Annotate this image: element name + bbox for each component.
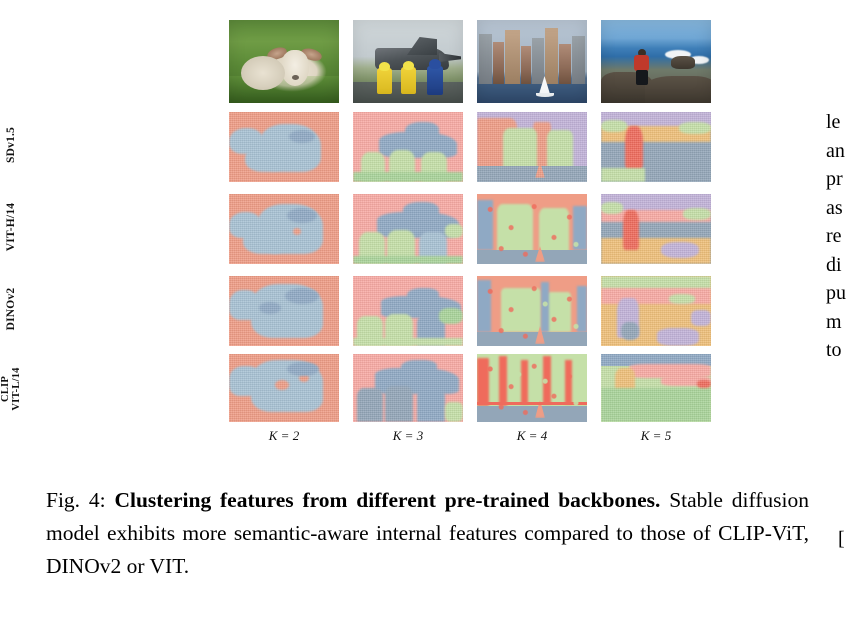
cluster-map-vith14-k2: [229, 194, 339, 264]
column-label-k3: K = 3: [353, 428, 463, 444]
cluster-map-vith14-k4: [477, 194, 587, 264]
cluster-map-dinov2-k2: [229, 276, 339, 346]
right-col-line-9: to: [826, 336, 862, 365]
column-label-k3-text: K = 3: [393, 428, 423, 443]
row-label-vit-h14: VIT-H/14: [0, 188, 22, 266]
column-label-k5: K = 5: [601, 428, 711, 444]
source-image-coast: [601, 20, 711, 103]
right-col-line-8: m: [826, 308, 862, 337]
column-label-k2: K = 2: [229, 428, 339, 444]
cluster-map-dinov2-k5: [601, 276, 711, 346]
right-col-line-6: di: [826, 251, 862, 280]
cluster-map-vith14-k3: [353, 194, 463, 264]
column-label-k4: K = 4: [477, 428, 587, 444]
cluster-map-sdv15-k2: [229, 112, 339, 182]
source-image-jet: [353, 20, 463, 103]
page-canvas: SDv1.5 VIT-H/14 DINOv2 CLIP VIT-L/14: [0, 0, 862, 630]
cluster-map-vith14-k5: [601, 194, 711, 264]
figure-caption: Fig. 4: Clustering features from differe…: [46, 484, 809, 583]
right-col-line-1: le: [826, 108, 862, 137]
figure-caption-lead: Clustering features from different pre-t…: [114, 488, 660, 512]
right-col-line-4: as: [826, 194, 862, 223]
right-col-line-2: an: [826, 137, 862, 166]
figure-number: Fig. 4:: [46, 488, 106, 512]
column-label-k5-text: K = 5: [641, 428, 671, 443]
right-col-line-5: re: [826, 222, 862, 251]
column-label-k2-text: K = 2: [269, 428, 299, 443]
row-label-dinov2: DINOv2: [0, 270, 22, 348]
cluster-map-clip-k3: [353, 354, 463, 422]
cluster-map-sdv15-k5: [601, 112, 711, 182]
cluster-map-clip-k2: [229, 354, 339, 422]
row-label-sdv15: SDv1.5: [0, 106, 22, 184]
cluster-map-clip-k4: [477, 354, 587, 422]
cluster-map-sdv15-k3: [353, 112, 463, 182]
cluster-map-dinov2-k3: [353, 276, 463, 346]
row-label-clip-vit-l14: CLIP VIT-L/14: [0, 350, 22, 428]
source-image-city: [477, 20, 587, 103]
column-label-k4-text: K = 4: [517, 428, 547, 443]
source-image-sheep: [229, 20, 339, 103]
cluster-map-clip-k5: [601, 354, 711, 422]
right-column-bracket: [: [838, 528, 845, 551]
right-column-text-fragment: le an pr as re di pu m to: [826, 108, 862, 365]
cluster-map-dinov2-k4: [477, 276, 587, 346]
cluster-map-sdv15-k4: [477, 112, 587, 182]
right-col-line-7: pu: [826, 279, 862, 308]
right-col-line-3: pr: [826, 165, 862, 194]
